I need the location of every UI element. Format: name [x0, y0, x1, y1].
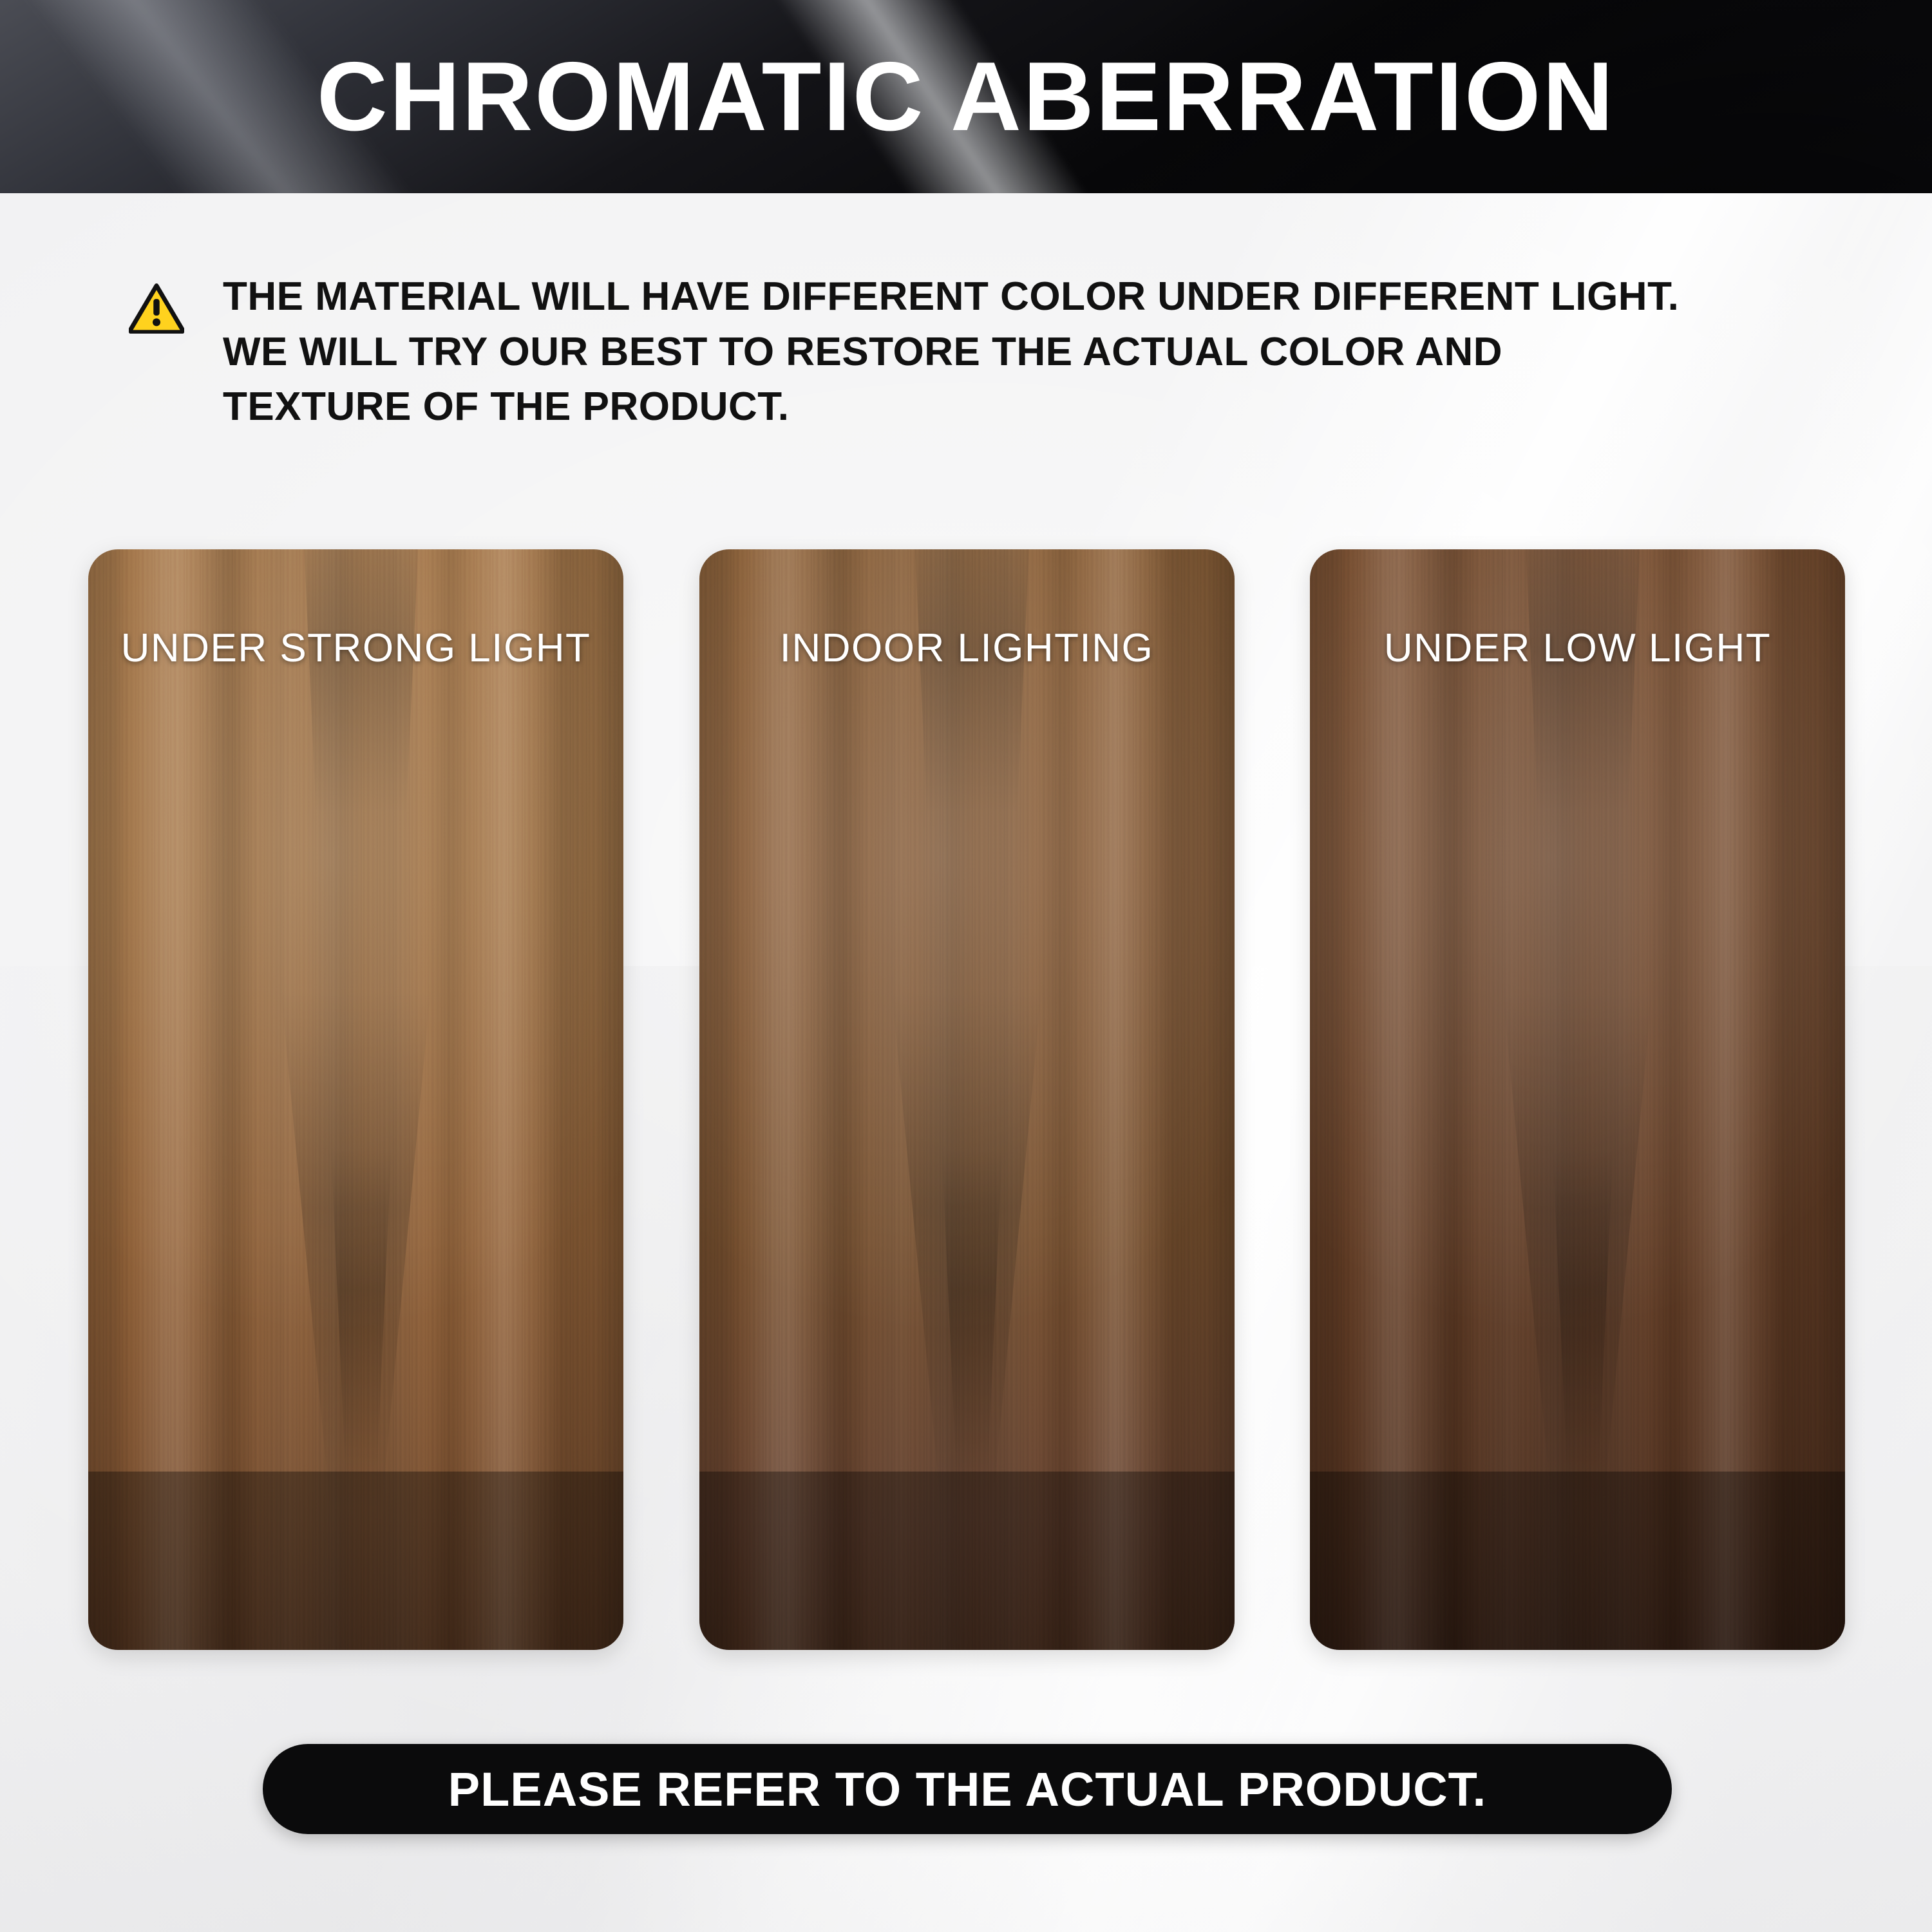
wood-footer-tint [1310, 1472, 1845, 1650]
page-title: CHROMATIC ABERRATION [0, 0, 1932, 193]
wood-sample-card-low-light[interactable]: UNDER LOW LIGHT [1310, 549, 1845, 1650]
header-banner: CHROMATIC ABERRATION [0, 0, 1932, 193]
wood-sample-footer-band [88, 1472, 623, 1650]
wood-sample-card-indoor-lighting[interactable]: INDOOR LIGHTING [699, 549, 1235, 1650]
wood-sample-row: UNDER STRONG LIGHT INDOOR LIGHTING [88, 549, 1845, 1650]
refer-to-actual-product-banner[interactable]: PLEASE REFER TO THE ACTUAL PRODUCT. [263, 1744, 1672, 1834]
wood-sample-label: INDOOR LIGHTING [699, 625, 1235, 671]
wood-sample-footer-band [699, 1472, 1235, 1650]
wood-footer-tint [699, 1472, 1235, 1650]
wood-footer-tint [88, 1472, 623, 1650]
wood-sample-label: UNDER LOW LIGHT [1310, 625, 1845, 671]
wood-sample-card-strong-light[interactable]: UNDER STRONG LIGHT [88, 549, 623, 1650]
warning-triangle-icon [129, 282, 184, 334]
wood-sample-label: UNDER STRONG LIGHT [88, 625, 623, 671]
promo-banner-page: CHROMATIC ABERRATION THE MATERIAL WILL H… [0, 0, 1932, 1932]
chromatic-aberration-notice: THE MATERIAL WILL HAVE DIFFERENT COLOR U… [129, 269, 1803, 435]
notice-text: THE MATERIAL WILL HAVE DIFFERENT COLOR U… [223, 269, 1679, 435]
wood-sample-footer-band [1310, 1472, 1845, 1650]
